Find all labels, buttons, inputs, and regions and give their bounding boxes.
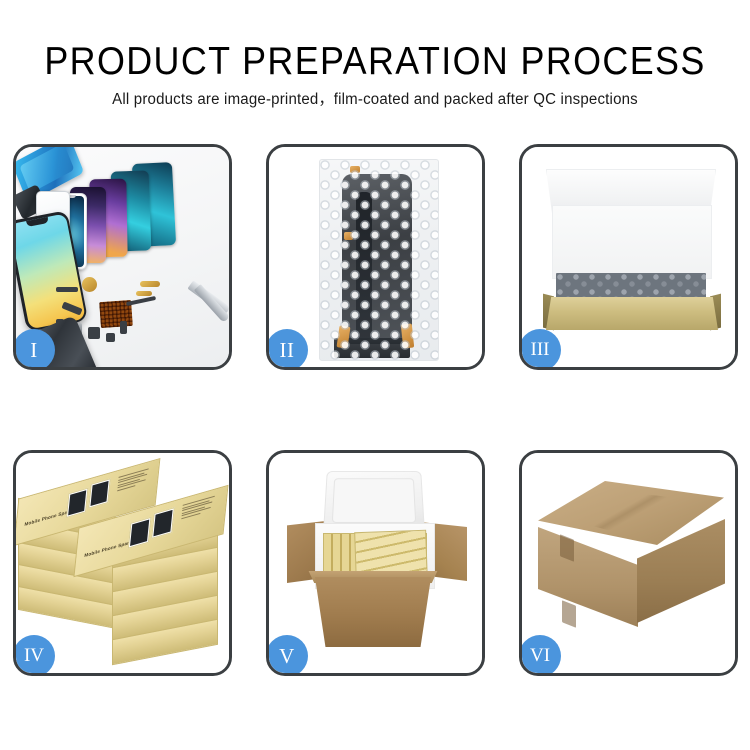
- chip-part: [106, 333, 115, 342]
- carton-front-panel: [307, 577, 439, 647]
- photo-card-1: I: [13, 144, 232, 370]
- bubble-texture: [320, 160, 438, 360]
- carton-left-face: [538, 527, 638, 627]
- step-caption-5: Boxes packed into a foam case inside an …: [266, 450, 267, 451]
- sim-tray-part: [120, 321, 127, 334]
- step-card-2: II Single part sealed inside a clear bub…: [266, 144, 485, 370]
- step-number-badge-2: II: [266, 329, 308, 370]
- bubble-wrap-bag: [319, 159, 439, 361]
- camera-ring-part: [82, 277, 97, 292]
- header: PRODUCT PREPARATION PROCESS All products…: [0, 40, 750, 110]
- step-number-badge-4: IV: [13, 635, 55, 676]
- page-subtitle: All products are image-printed，film-coat…: [11, 90, 739, 110]
- box-stack: Mobile Phone Spare Parts Mobile Phone: [16, 461, 229, 669]
- white-foam-sheet: [552, 205, 712, 279]
- carton-tape-lower: [562, 600, 576, 628]
- step-number-badge-1: I: [13, 329, 55, 370]
- step-number-badge-6: VI: [519, 635, 561, 676]
- photo-card-4: Mobile Phone Spare Parts Mobile Phone: [13, 450, 232, 676]
- step-caption-3: Yellow inner box with white foam padding…: [519, 144, 520, 145]
- step-number-badge-3: III: [519, 329, 561, 370]
- step-caption-2: Single part sealed inside a clear bubble…: [266, 144, 267, 145]
- step-card-5: V Boxes packed into a foam case inside a…: [266, 450, 485, 676]
- grey-bubble-liner: [556, 273, 706, 301]
- step-card-4: Mobile Phone Spare Parts Mobile Phone: [13, 450, 232, 676]
- photo-card-6: VI: [519, 450, 738, 676]
- step-card-6: VI Sealed and taped brown shipping carto…: [519, 450, 738, 676]
- photo-card-5: V: [266, 450, 485, 676]
- gold-flex-part: [140, 281, 160, 287]
- vibrator-part: [88, 327, 100, 339]
- page-title: PRODUCT PREPARATION PROCESS: [30, 40, 720, 84]
- product-preparation-infographic: PRODUCT PREPARATION PROCESS All products…: [0, 0, 750, 750]
- step-number-badge-5: V: [266, 635, 308, 676]
- step-caption-6: Sealed and taped brown shipping carton r…: [519, 450, 520, 451]
- gold-flex-part-2: [136, 291, 152, 296]
- process-steps-grid: I Assorted mobile phone screens, back co…: [13, 144, 739, 676]
- flex-connector-part: [56, 287, 78, 292]
- photo-card-3: III: [519, 144, 738, 370]
- photo-card-2: II: [266, 144, 485, 370]
- step-card-1: I Assorted mobile phone screens, back co…: [13, 144, 232, 370]
- step-caption-4: Stacked yellow retail boxes printed Mobi…: [13, 450, 14, 451]
- ribbon-cable-part: [126, 296, 156, 306]
- yellow-box-front: [546, 297, 718, 330]
- step-caption-1: Assorted mobile phone screens, back cove…: [13, 144, 14, 145]
- step-card-3: III Yellow inner box with white foam pad…: [519, 144, 738, 370]
